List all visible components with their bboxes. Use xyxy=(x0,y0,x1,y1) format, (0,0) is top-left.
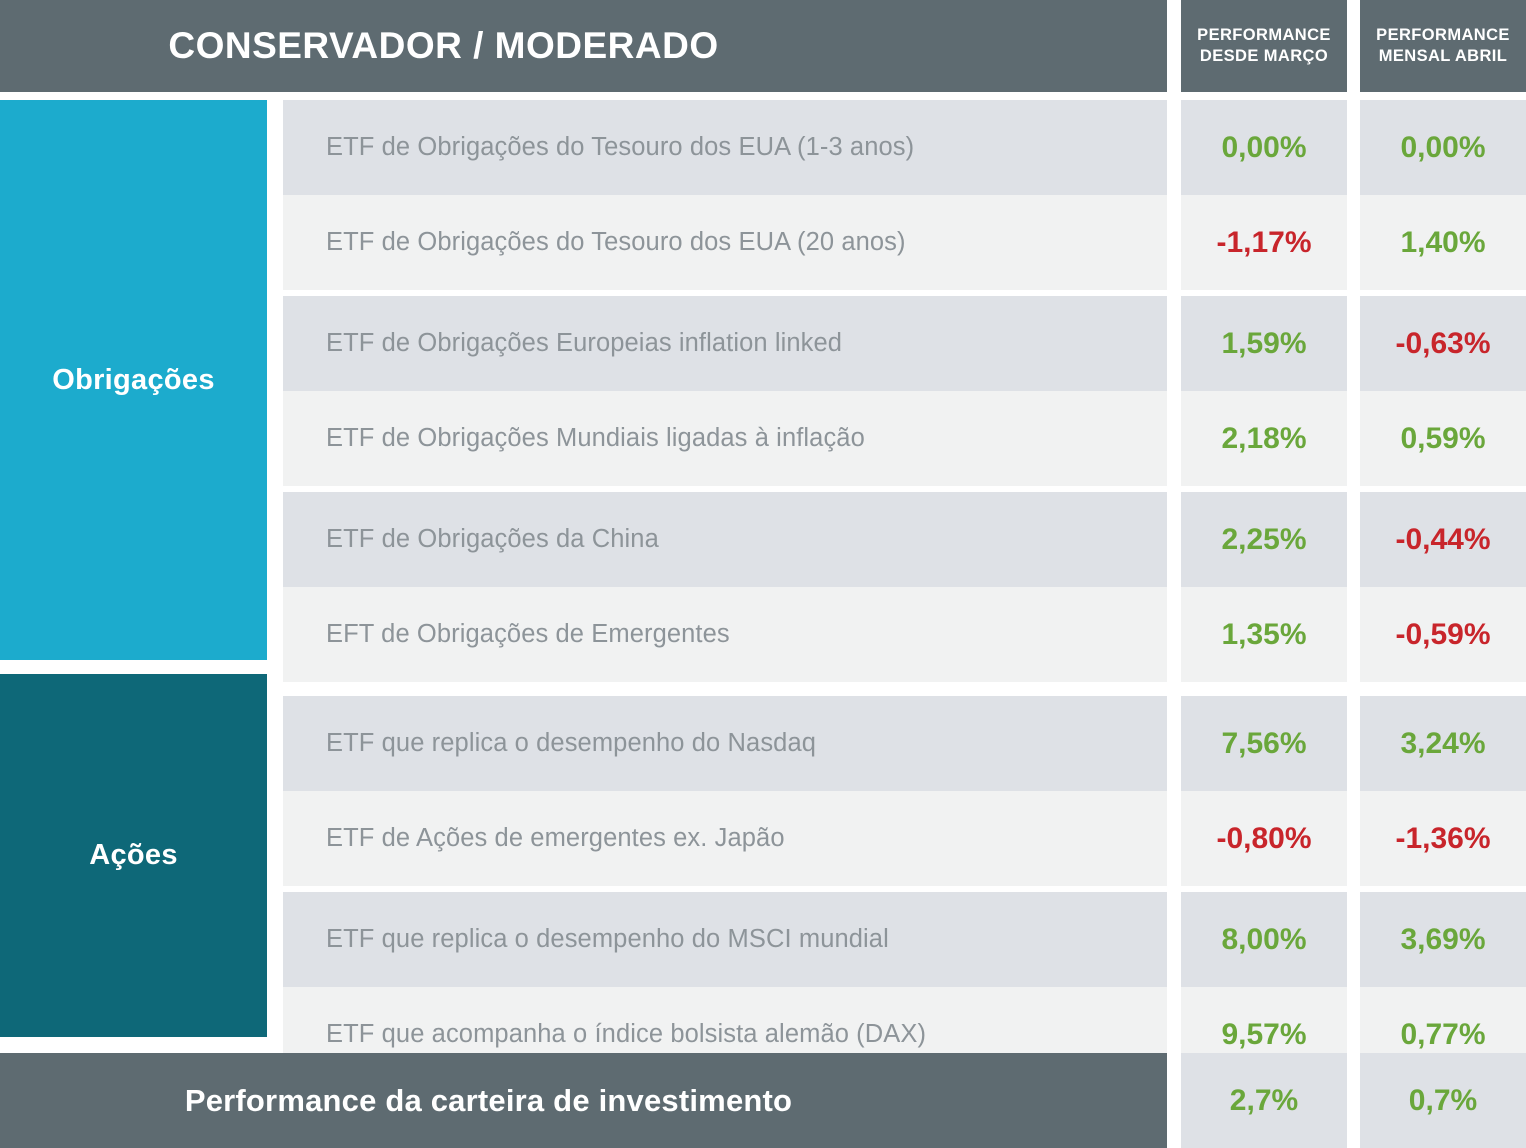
cell-since-march-value: 2,25% xyxy=(1221,523,1306,557)
cell-monthly-april: -0,63% xyxy=(1360,296,1526,391)
table-footer: Performance da carteira de investimento … xyxy=(0,1053,1526,1148)
footer-title: Performance da carteira de investimento xyxy=(0,1053,1167,1148)
table-row: ETF de Obrigações do Tesouro dos EUA (20… xyxy=(0,195,1526,290)
cell-monthly-april-value: -0,44% xyxy=(1395,523,1490,557)
column-header-since-march: PERFORMANCE DESDE MARÇO xyxy=(1181,0,1347,92)
cell-since-march-value: 0,00% xyxy=(1221,131,1306,165)
row-label: ETF de Obrigações do Tesouro dos EUA (1-… xyxy=(283,100,1167,195)
portfolio-performance-table: CONSERVADOR / MODERADO PERFORMANCE DESDE… xyxy=(0,0,1526,1148)
table-row: ETF de Obrigações da China2,25%-0,44% xyxy=(0,492,1526,587)
column-header-monthly-april: PERFORMANCE MENSAL ABRIL xyxy=(1360,0,1526,92)
table-row: ETF de Obrigações do Tesouro dos EUA (1-… xyxy=(0,100,1526,195)
cell-monthly-april-value: -0,63% xyxy=(1395,327,1490,361)
row-label-text: ETF que replica o desempenho do Nasdaq xyxy=(326,729,816,758)
column-header-monthly-april-line1: PERFORMANCE xyxy=(1376,25,1510,46)
table-row: ETF de Ações de emergentes ex. Japão-0,8… xyxy=(0,791,1526,886)
footer-value-monthly-april: 0,7% xyxy=(1360,1053,1526,1148)
cell-monthly-april: 3,24% xyxy=(1360,696,1526,791)
row-label-text: ETF de Obrigações Europeias inflation li… xyxy=(326,329,842,358)
row-label-text: ETF que replica o desempenho do MSCI mun… xyxy=(326,925,889,954)
row-label: ETF de Ações de emergentes ex. Japão xyxy=(283,791,1167,886)
cell-since-march: 2,18% xyxy=(1181,391,1347,486)
cell-monthly-april-value: 1,40% xyxy=(1400,226,1485,260)
cell-since-march-value: 2,18% xyxy=(1221,422,1306,456)
table-header: CONSERVADOR / MODERADO PERFORMANCE DESDE… xyxy=(0,0,1526,92)
cell-monthly-april: -0,44% xyxy=(1360,492,1526,587)
cell-monthly-april: 3,69% xyxy=(1360,892,1526,987)
cell-since-march: 7,56% xyxy=(1181,696,1347,791)
row-label-text: EFT de Obrigações de Emergentes xyxy=(326,620,730,649)
cell-since-march: 8,00% xyxy=(1181,892,1347,987)
row-label: ETF que replica o desempenho do Nasdaq xyxy=(283,696,1167,791)
cell-monthly-april-value: -0,59% xyxy=(1395,618,1490,652)
table-row: ETF que replica o desempenho do MSCI mun… xyxy=(0,892,1526,987)
table-row: ETF de Obrigações Europeias inflation li… xyxy=(0,296,1526,391)
footer-value-since-march-text: 2,7% xyxy=(1230,1084,1298,1118)
cell-monthly-april-value: 3,24% xyxy=(1400,727,1485,761)
cell-monthly-april: -1,36% xyxy=(1360,791,1526,886)
cell-since-march: -0,80% xyxy=(1181,791,1347,886)
table-row: EFT de Obrigações de Emergentes1,35%-0,5… xyxy=(0,587,1526,682)
cell-since-march: 1,59% xyxy=(1181,296,1347,391)
cell-since-march-value: -1,17% xyxy=(1216,226,1311,260)
cell-since-march: 0,00% xyxy=(1181,100,1347,195)
cell-monthly-april-value: 0,77% xyxy=(1400,1018,1485,1052)
column-header-monthly-april-line2: MENSAL ABRIL xyxy=(1379,46,1508,67)
cell-since-march: 2,25% xyxy=(1181,492,1347,587)
cell-monthly-april-value: 0,59% xyxy=(1400,422,1485,456)
column-header-since-march-line2: DESDE MARÇO xyxy=(1200,46,1328,67)
cell-monthly-april: 0,59% xyxy=(1360,391,1526,486)
table-row: ETF que replica o desempenho do Nasdaq7,… xyxy=(0,696,1526,791)
row-label: EFT de Obrigações de Emergentes xyxy=(283,587,1167,682)
cell-since-march-value: 8,00% xyxy=(1221,923,1306,957)
row-label: ETF que replica o desempenho do MSCI mun… xyxy=(283,892,1167,987)
cell-since-march-value: 1,35% xyxy=(1221,618,1306,652)
row-label: ETF de Obrigações da China xyxy=(283,492,1167,587)
table-row: ETF de Obrigações Mundiais ligadas à inf… xyxy=(0,391,1526,486)
footer-value-since-march: 2,7% xyxy=(1181,1053,1347,1148)
row-label: ETF de Obrigações do Tesouro dos EUA (20… xyxy=(283,195,1167,290)
cell-monthly-april: 1,40% xyxy=(1360,195,1526,290)
row-label-text: ETF de Obrigações do Tesouro dos EUA (20… xyxy=(326,228,906,257)
cell-since-march: 1,35% xyxy=(1181,587,1347,682)
page-title: CONSERVADOR / MODERADO xyxy=(0,0,1167,92)
row-label: ETF de Obrigações Mundiais ligadas à inf… xyxy=(283,391,1167,486)
row-label-text: ETF de Ações de emergentes ex. Japão xyxy=(326,824,785,853)
column-header-since-march-line1: PERFORMANCE xyxy=(1197,25,1331,46)
cell-since-march-value: 7,56% xyxy=(1221,727,1306,761)
row-label-text: ETF de Obrigações Mundiais ligadas à inf… xyxy=(326,424,865,453)
cell-since-march-value: -0,80% xyxy=(1216,822,1311,856)
footer-value-monthly-april-text: 0,7% xyxy=(1409,1084,1477,1118)
cell-monthly-april: 0,00% xyxy=(1360,100,1526,195)
cell-monthly-april-value: 3,69% xyxy=(1400,923,1485,957)
row-label: ETF de Obrigações Europeias inflation li… xyxy=(283,296,1167,391)
row-label-text: ETF que acompanha o índice bolsista alem… xyxy=(326,1020,926,1049)
cell-since-march: -1,17% xyxy=(1181,195,1347,290)
cell-monthly-april-value: 0,00% xyxy=(1400,131,1485,165)
cell-since-march-value: 1,59% xyxy=(1221,327,1306,361)
row-label-text: ETF de Obrigações do Tesouro dos EUA (1-… xyxy=(326,133,914,162)
row-label-text: ETF de Obrigações da China xyxy=(326,525,659,554)
cell-monthly-april-value: -1,36% xyxy=(1395,822,1490,856)
cell-monthly-april: -0,59% xyxy=(1360,587,1526,682)
cell-since-march-value: 9,57% xyxy=(1221,1018,1306,1052)
